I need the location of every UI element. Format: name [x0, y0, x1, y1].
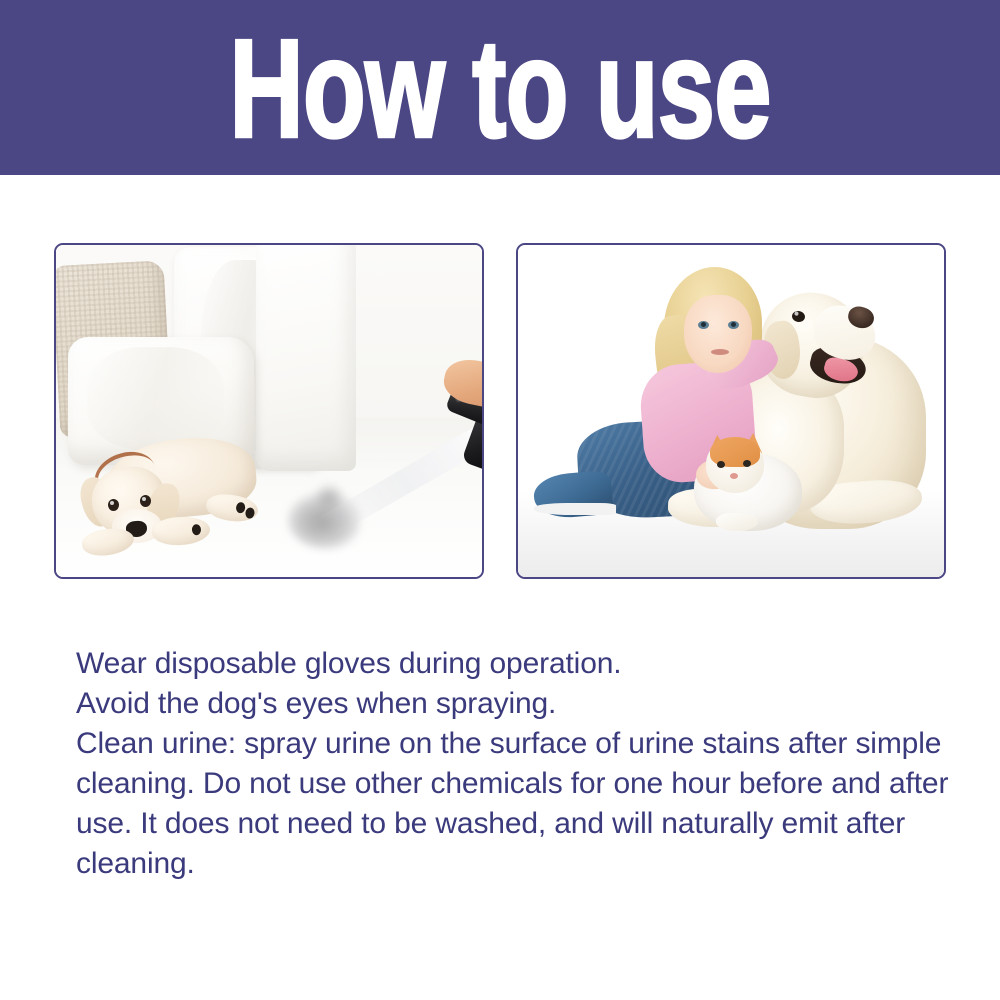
urine-stain-splash	[314, 483, 344, 509]
pets-and-child-photo	[518, 245, 944, 577]
girl-mouth	[711, 349, 729, 355]
product-instruction-page: How to use	[0, 0, 1000, 1000]
header-banner: How to use	[0, 0, 1000, 175]
puppy-front-paw-left	[80, 526, 135, 559]
puppy-toe-pad	[235, 502, 245, 514]
girl-eye-right	[728, 321, 739, 329]
puppy-illustration	[64, 433, 276, 565]
photo-panel-pets-and-child	[516, 243, 946, 579]
puppy-toe-pad	[192, 524, 202, 535]
girl-eye-left	[698, 321, 709, 329]
photo-panel-spray-demo	[54, 243, 484, 579]
page-title: How to use	[229, 32, 770, 147]
puppy-hind-paw	[204, 492, 259, 525]
instructions-block: Wear disposable gloves during operation.…	[76, 644, 952, 884]
puppy-toe-pad	[245, 507, 255, 519]
cat-paw	[716, 513, 758, 531]
instruction-line-1: Wear disposable gloves during operation.	[76, 644, 952, 684]
spray-demo-photo	[56, 245, 482, 577]
instruction-line-3: Clean urine: spray urine on the surface …	[76, 724, 952, 884]
girl-shoe-sole	[534, 503, 616, 515]
photo-panel-row	[54, 243, 946, 579]
cat-eye-right	[743, 460, 751, 467]
cat-eye-left	[717, 461, 725, 468]
instruction-line-2: Avoid the dog's eyes when spraying.	[76, 684, 952, 724]
puppy-eye-left	[108, 499, 119, 511]
girl-face	[684, 295, 752, 373]
cat-nose	[730, 473, 738, 479]
puppy-eye-right	[140, 495, 151, 507]
puppy-front-paw-right	[151, 516, 210, 547]
